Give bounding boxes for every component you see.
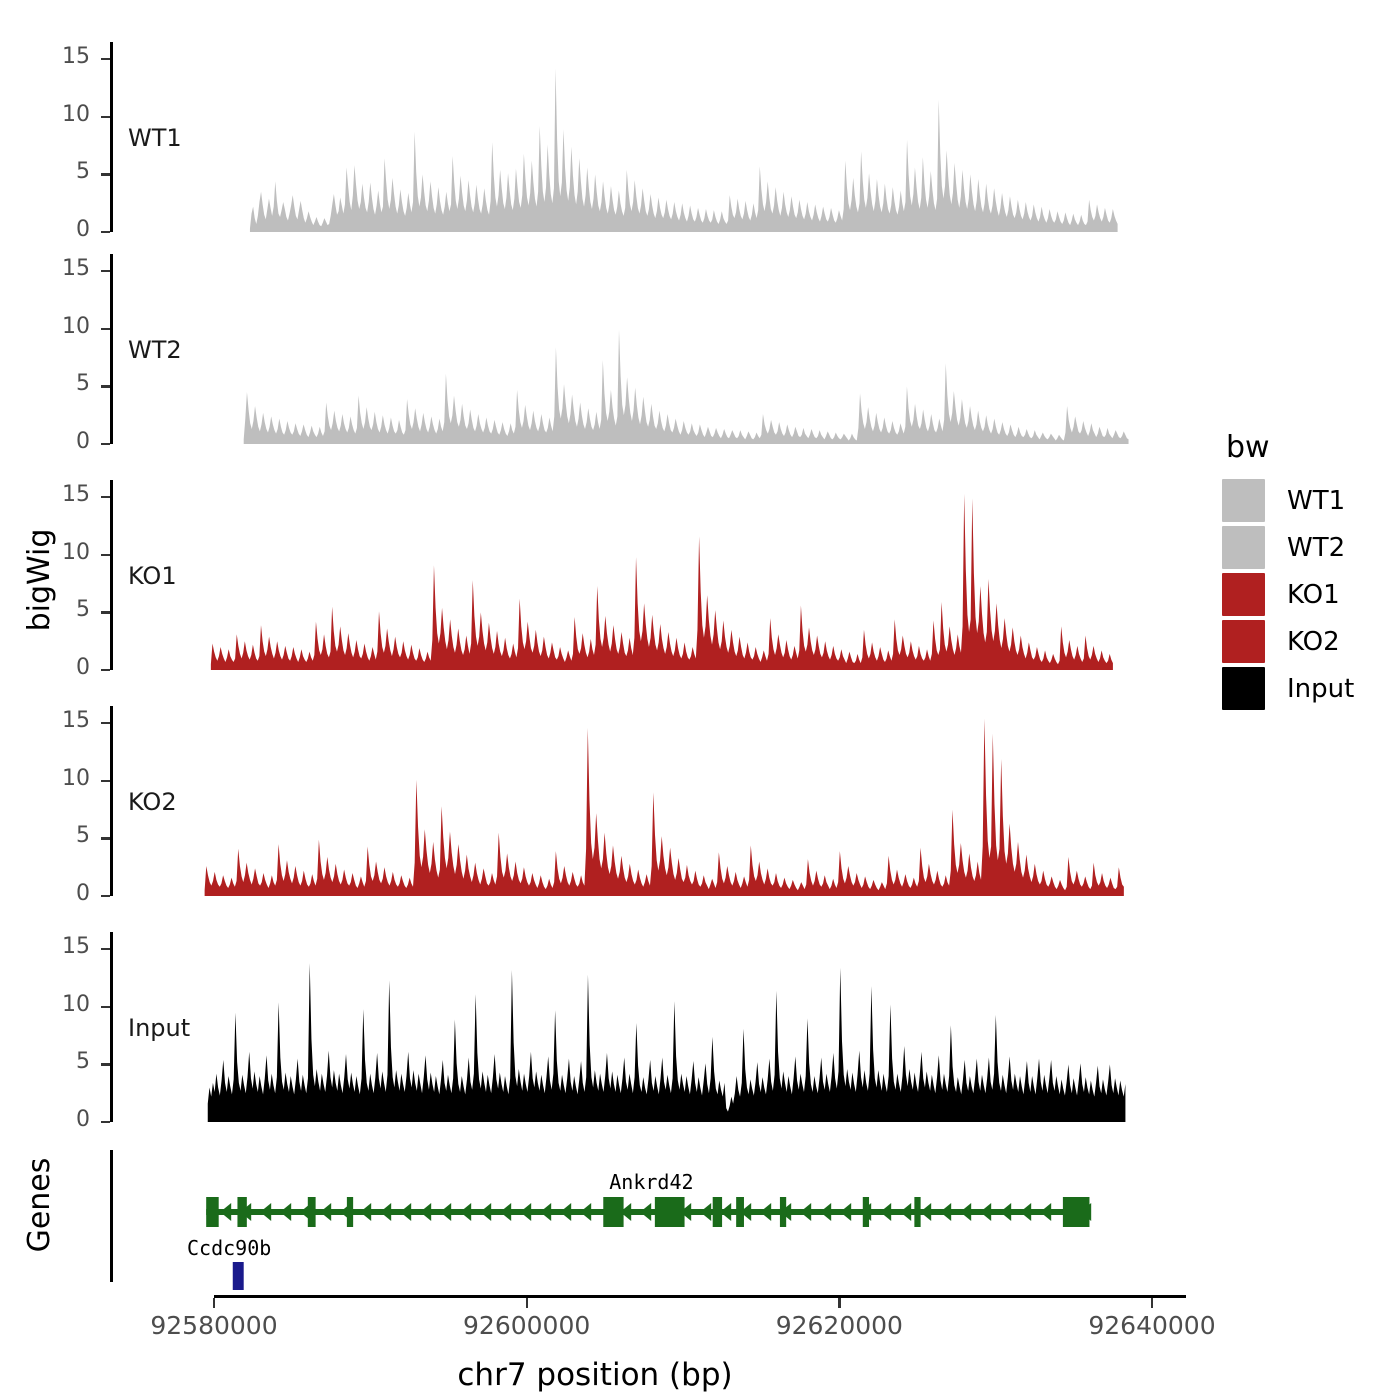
y-tick-label-input-5: 5 — [30, 1049, 90, 1074]
legend-swatch-ko2 — [1222, 620, 1265, 663]
legend-label-ko2: KO2 — [1287, 627, 1340, 657]
y-tick-label-wt1-0: 0 — [30, 217, 90, 242]
y-tick-wt2-10 — [101, 328, 110, 330]
y-tick-ko2-5 — [101, 837, 110, 839]
legend-swatch-wt1 — [1222, 479, 1265, 522]
x-tick-92620000 — [838, 1298, 840, 1308]
gene-label-ccdc90b: Ccdc90b — [187, 1236, 271, 1260]
legend-item-wt2[interactable]: WT2 — [1222, 524, 1397, 571]
y-tick-wt1-5 — [101, 173, 110, 175]
y-tick-label-wt2-10: 10 — [30, 314, 90, 339]
x-tick-label-92580000: 92580000 — [104, 1311, 324, 1340]
legend-title: bw — [1226, 430, 1397, 465]
y-tick-label-ko1-10: 10 — [30, 540, 90, 565]
legend: bw WT1WT2KO1KO2Input — [1222, 430, 1397, 712]
y-axis-title-bigwig: bigWig — [20, 480, 60, 680]
legend-swatch-wt2 — [1222, 526, 1265, 569]
genes-axis-line — [110, 1150, 113, 1282]
y-tick-ko1-0 — [101, 669, 110, 671]
y-tick-label-input-10: 10 — [30, 992, 90, 1017]
y-tick-label-wt1-10: 10 — [30, 102, 90, 127]
genes-svg — [110, 1150, 1400, 1300]
y-tick-label-wt2-15: 15 — [30, 256, 90, 281]
bigwig-track-wt2: 151050WT2 — [110, 254, 1400, 444]
legend-rows: WT1WT2KO1KO2Input — [1222, 477, 1397, 712]
y-tick-ko1-15 — [101, 496, 110, 498]
coverage-area-input — [110, 932, 1400, 1126]
y-tick-input-15 — [101, 948, 110, 950]
y-tick-label-ko1-0: 0 — [30, 655, 90, 680]
y-tick-label-wt2-5: 5 — [30, 371, 90, 396]
x-tick-label-92640000: 92640000 — [1042, 1311, 1262, 1340]
y-tick-ko1-5 — [101, 611, 110, 613]
legend-label-wt2: WT2 — [1287, 533, 1345, 563]
y-tick-label-ko1-15: 15 — [30, 482, 90, 507]
legend-label-wt1: WT1 — [1287, 486, 1345, 516]
y-tick-input-0 — [101, 1121, 110, 1123]
y-tick-wt2-5 — [101, 385, 110, 387]
y-tick-label-input-15: 15 — [30, 934, 90, 959]
bigwig-track-input: 151050Input — [110, 932, 1400, 1122]
coverage-area-wt1 — [110, 42, 1400, 236]
y-tick-label-wt1-15: 15 — [30, 44, 90, 69]
y-tick-label-ko2-5: 5 — [30, 823, 90, 848]
y-tick-label-ko2-15: 15 — [30, 708, 90, 733]
legend-item-wt1[interactable]: WT1 — [1222, 477, 1397, 524]
x-tick-92640000 — [1151, 1298, 1153, 1308]
y-tick-ko2-0 — [101, 895, 110, 897]
y-tick-wt2-15 — [101, 270, 110, 272]
y-tick-wt2-0 — [101, 443, 110, 445]
y-tick-ko2-10 — [101, 780, 110, 782]
x-tick-92600000 — [526, 1298, 528, 1308]
bigwig-track-ko1: 151050KO1 — [110, 480, 1400, 670]
bigwig-track-wt1: 151050WT1 — [110, 42, 1400, 232]
y-tick-label-ko1-5: 5 — [30, 597, 90, 622]
legend-label-input: Input — [1287, 674, 1354, 704]
x-axis-title: chr7 position (bp) — [0, 1357, 1190, 1393]
y-tick-label-input-0: 0 — [30, 1107, 90, 1132]
y-tick-input-5 — [101, 1063, 110, 1065]
y-tick-input-10 — [101, 1006, 110, 1008]
y-tick-label-wt1-5: 5 — [30, 159, 90, 184]
x-axis: 92580000926000009262000092640000 chr7 po… — [0, 1295, 1400, 1400]
legend-swatch-input — [1222, 667, 1265, 710]
x-axis-line — [214, 1295, 1186, 1298]
y-tick-ko2-15 — [101, 722, 110, 724]
genes-track-panel: Ankrd42 Ccdc90b — [110, 1150, 1400, 1300]
y-axis-title-genes: Genes — [20, 1105, 60, 1305]
x-tick-92580000 — [213, 1298, 215, 1308]
legend-swatch-ko1 — [1222, 573, 1265, 616]
y-tick-label-ko2-0: 0 — [30, 881, 90, 906]
y-tick-label-ko2-10: 10 — [30, 766, 90, 791]
coverage-area-ko2 — [110, 706, 1400, 900]
y-tick-wt1-15 — [101, 58, 110, 60]
x-tick-label-92620000: 92620000 — [729, 1311, 949, 1340]
y-tick-label-wt2-0: 0 — [30, 429, 90, 454]
x-tick-label-92600000: 92600000 — [417, 1311, 637, 1340]
coverage-area-wt2 — [110, 254, 1400, 448]
y-tick-wt1-10 — [101, 116, 110, 118]
gene-body-ccdc90b — [233, 1262, 244, 1290]
coverage-area-ko1 — [110, 480, 1400, 674]
legend-item-ko2[interactable]: KO2 — [1222, 618, 1397, 665]
legend-label-ko1: KO1 — [1287, 580, 1340, 610]
gene-label-ankrd42: Ankrd42 — [609, 1170, 693, 1194]
legend-item-input[interactable]: Input — [1222, 665, 1397, 712]
legend-item-ko1[interactable]: KO1 — [1222, 571, 1397, 618]
y-tick-ko1-10 — [101, 554, 110, 556]
y-tick-wt1-0 — [101, 231, 110, 233]
bigwig-track-ko2: 151050KO2 — [110, 706, 1400, 896]
